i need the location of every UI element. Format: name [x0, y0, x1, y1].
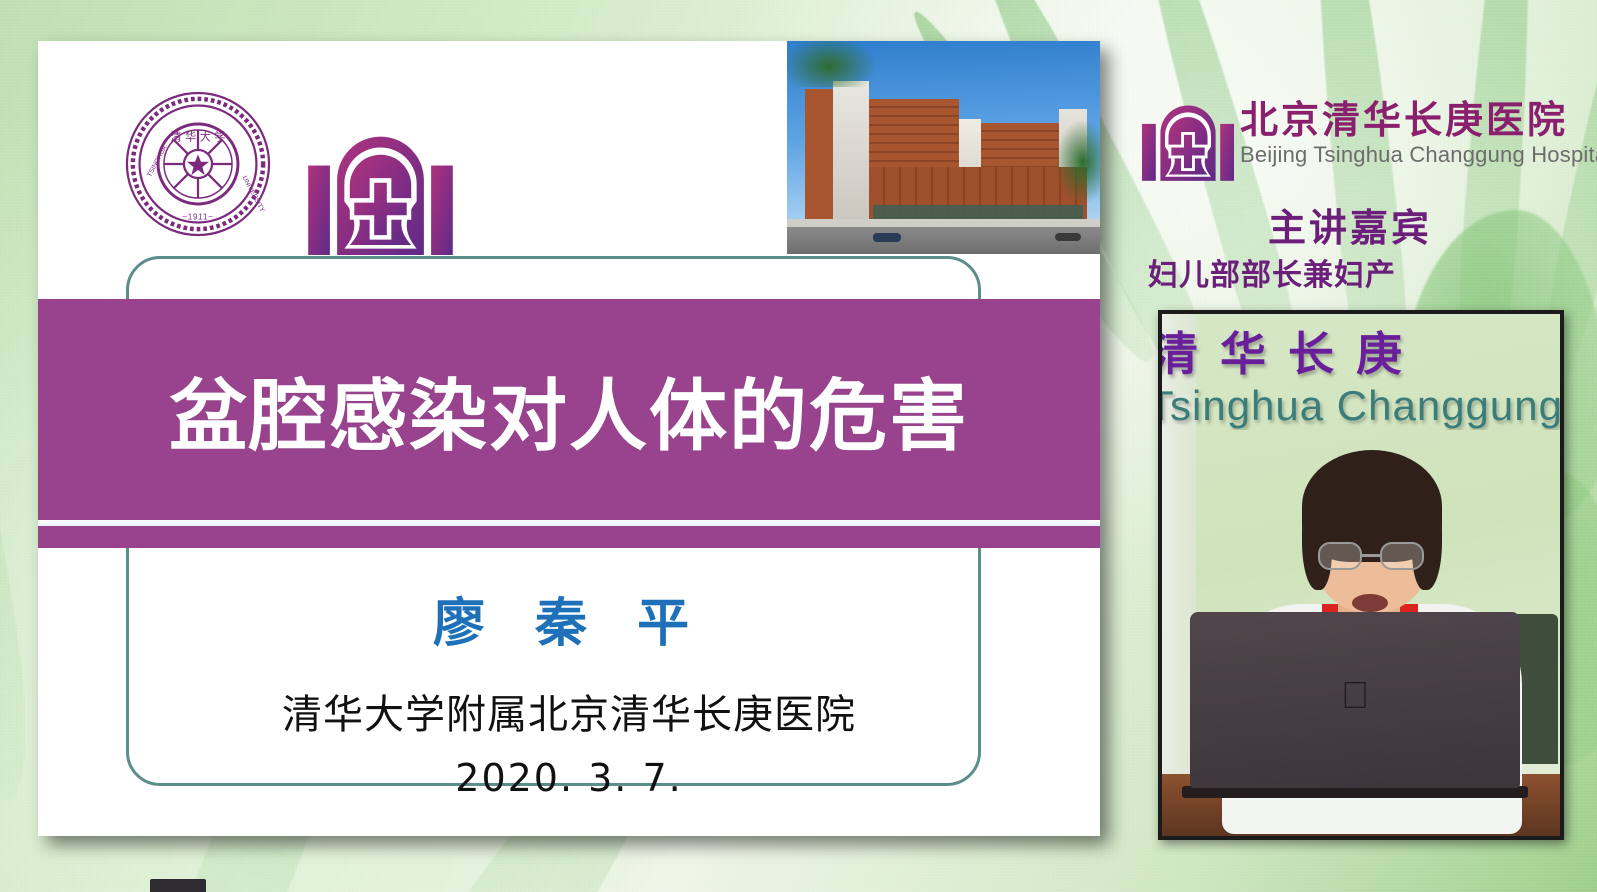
svg-text:~1911~: ~1911~: [182, 213, 213, 222]
presenter-block: 廖 秦 平 清华大学附属北京清华长庚医院 2020. 3. 7.: [38, 581, 1100, 800]
guest-speaker-label: 主讲嘉宾: [1140, 197, 1560, 252]
changgung-hospital-gate-logo-icon: [1142, 103, 1234, 181]
slide-header: 清 华 大 学 ~1911~ TSINGHUA UNIVERSITY: [38, 41, 1100, 256]
presentation-slide[interactable]: 清 华 大 学 ~1911~ TSINGHUA UNIVERSITY: [38, 41, 1100, 836]
hospital-name-en: Beijing Tsinghua Changgung Hospital: [1240, 142, 1590, 168]
presenter-name: 廖 秦 平: [38, 581, 1100, 656]
video-speaker-mouth: [1352, 594, 1388, 612]
slide-title-band: 盆腔感染对人体的危害: [38, 299, 1100, 520]
photo-tree: [787, 41, 877, 87]
hospital-name-cn: 北京清华长庚医院: [1240, 100, 1590, 140]
hospital-wordmark: 北京清华长庚医院 Beijing Tsinghua Changgung Hosp…: [1240, 100, 1590, 168]
photo-road: [787, 225, 1100, 254]
video-speaker-glasses: [1380, 542, 1424, 570]
video-speaker-glasses-bridge: [1362, 554, 1380, 557]
video-speaker-glasses: [1318, 542, 1362, 570]
tsinghua-university-seal-icon: 清 华 大 学 ~1911~ TSINGHUA UNIVERSITY: [124, 90, 272, 238]
photo-tree: [1055, 119, 1100, 205]
video-laptop: : [1190, 612, 1520, 788]
changgung-hospital-gate-logo-icon: [308, 133, 453, 255]
speaker-video-feed[interactable]: 清华长庚 Tsinghua Changgung : [1158, 310, 1564, 840]
presenter-affiliation: 清华大学附属北京清华长庚医院: [38, 682, 1100, 740]
photo-tower-left: [805, 89, 833, 219]
page-title: 盆腔感染对人体的危害: [169, 354, 969, 466]
title-band-lower-strip: [38, 526, 1100, 548]
presentation-date: 2020. 3. 7.: [38, 756, 1100, 800]
photo-car: [1055, 233, 1081, 241]
bottom-toolbar-chip[interactable]: [150, 879, 206, 892]
hospital-building-photo: [787, 41, 1100, 254]
photo-car: [873, 233, 901, 242]
video-backdrop-text-cn: 清华长庚: [1158, 318, 1564, 384]
photo-tower-white: [833, 81, 869, 221]
svg-text:清 华 大 学: 清 华 大 学: [171, 129, 226, 143]
guest-speaker-role: 妇儿部部长兼妇产: [1148, 250, 1588, 294]
video-backdrop-text-en: Tsinghua Changgung: [1158, 382, 1564, 430]
apple-logo-icon: : [1341, 677, 1370, 715]
photo-sidewalk: [787, 219, 1100, 227]
